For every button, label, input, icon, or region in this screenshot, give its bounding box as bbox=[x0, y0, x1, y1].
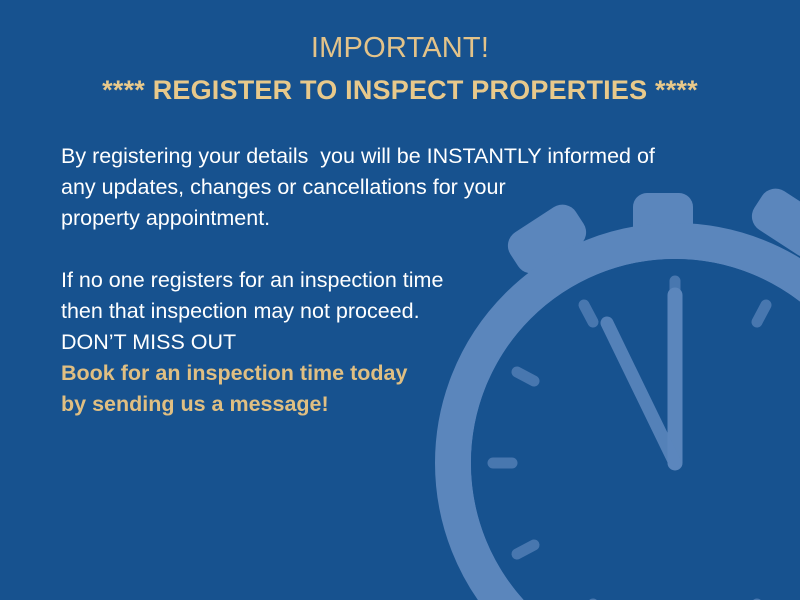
slide-content: IMPORTANT! **** REGISTER TO INSPECT PROP… bbox=[0, 0, 800, 600]
headline-block: IMPORTANT! **** REGISTER TO INSPECT PROP… bbox=[0, 28, 800, 110]
call-to-action-block: DON’T MISS OUT Book for an inspection ti… bbox=[61, 327, 721, 420]
promotional-slide: IMPORTANT! **** REGISTER TO INSPECT PROP… bbox=[0, 0, 800, 600]
body-paragraph-registering: By registering your details you will be … bbox=[61, 141, 721, 234]
headline-important: IMPORTANT! bbox=[0, 28, 800, 68]
cta-book-inspection: Book for an inspection time today by sen… bbox=[61, 358, 721, 420]
cta-dont-miss-out: DON’T MISS OUT bbox=[61, 327, 721, 358]
headline-register: **** REGISTER TO INSPECT PROPERTIES **** bbox=[0, 70, 800, 110]
body-block: By registering your details you will be … bbox=[61, 141, 721, 420]
body-paragraph-no-registration: If no one registers for an inspection ti… bbox=[61, 265, 721, 327]
